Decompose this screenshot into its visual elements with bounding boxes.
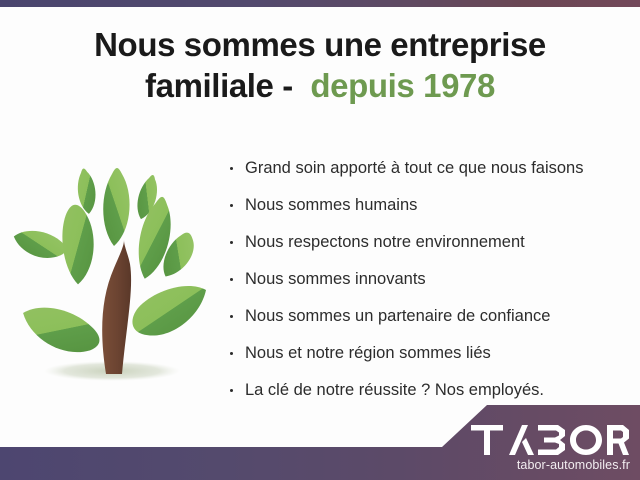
brand-tagline: tabor-automobiles.fr (470, 458, 630, 472)
list-item-label: La clé de notre réussite ? Nos employés. (245, 381, 544, 399)
list-item-label: Grand soin apporté à tout ce que nous fa… (245, 159, 583, 177)
tree-trunk (102, 240, 131, 374)
list-item: Nous sommes humains (228, 187, 640, 224)
page-title: Nous sommes une entreprise familiale - d… (0, 24, 640, 106)
bullet-icon (230, 278, 233, 281)
list-item-label: Nous et notre région sommes liés (245, 344, 491, 362)
list-item-label: Nous sommes innovants (245, 270, 426, 288)
title-line-2-prefix: familiale - (145, 67, 293, 104)
title-line-1: Nous sommes une entreprise (0, 24, 640, 65)
list-item: Nous et notre région sommes liés (228, 335, 640, 372)
bullet-icon (230, 241, 233, 244)
bullet-icon (230, 315, 233, 318)
bullet-icon (230, 204, 233, 207)
list-item-label: Nous respectons notre environnement (245, 233, 525, 251)
title-line-2: familiale - depuis 1978 (0, 65, 640, 106)
tree-leaf (59, 203, 98, 285)
brand-lockup: tabor-automobiles.fr (470, 423, 630, 472)
benefits-list: Grand soin apporté à tout ce que nous fa… (228, 150, 640, 409)
tree-leaf (103, 168, 129, 246)
tree-leaf (132, 286, 206, 336)
list-item: Grand soin apporté à tout ce que nous fa… (228, 150, 640, 187)
list-item-label: Nous sommes un partenaire de confiance (245, 307, 550, 325)
slide-canvas: Nous sommes une entreprise familiale - d… (0, 0, 640, 480)
bullet-icon (230, 352, 233, 355)
tabor-logo (470, 423, 630, 457)
bullet-icon (230, 389, 233, 392)
top-accent-bar (0, 0, 640, 7)
tree-leaf (11, 228, 68, 261)
list-item: Nous respectons notre environnement (228, 224, 640, 261)
title-accent-depuis: depuis 1978 (310, 67, 495, 104)
tree-leaf (17, 301, 105, 358)
list-item-label: Nous sommes humains (245, 196, 417, 214)
list-item: Nous sommes un partenaire de confiance (228, 298, 640, 335)
list-item: Nous sommes innovants (228, 261, 640, 298)
tree-illustration (8, 150, 223, 390)
bullet-icon (230, 167, 233, 170)
